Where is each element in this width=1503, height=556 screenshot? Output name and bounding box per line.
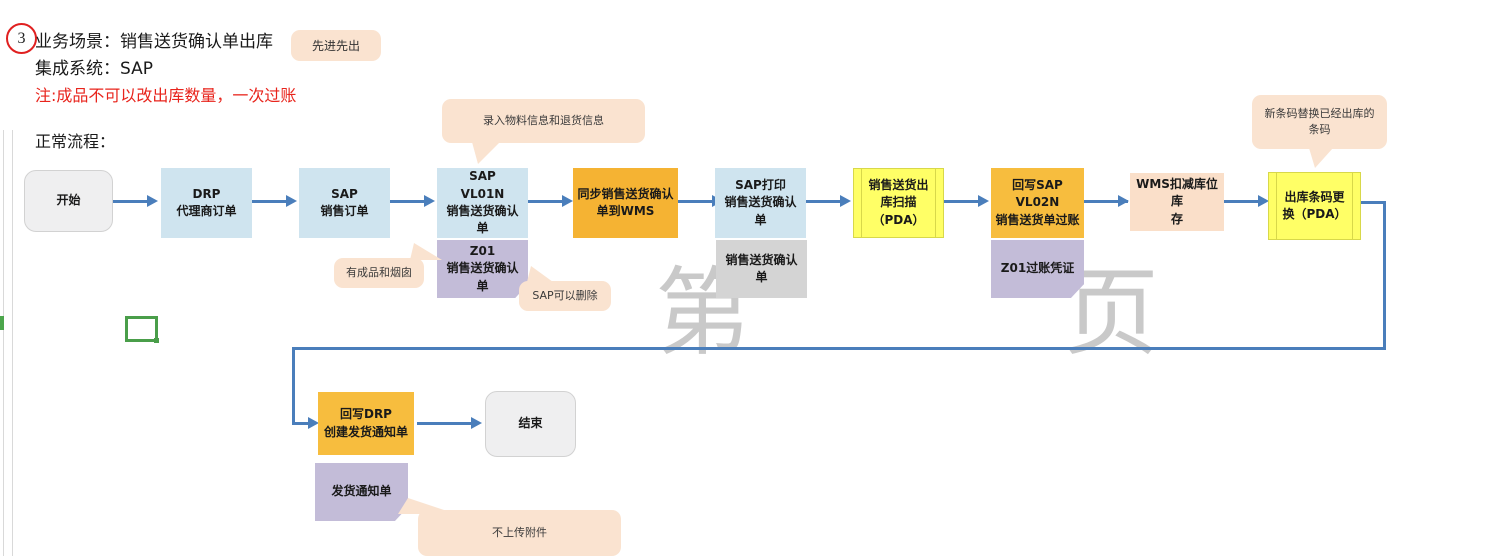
arrow-head bbox=[424, 195, 435, 207]
arrow-head bbox=[471, 417, 482, 429]
node-sap-vl02n[interactable]: 回写SAP VL02N 销售送货单过账 bbox=[991, 168, 1084, 238]
node-label-line2: 单到WMS bbox=[577, 203, 673, 220]
fifo-tag: 先进先出 bbox=[291, 30, 381, 61]
node-label-line2: 创建发货通知单 bbox=[324, 424, 408, 441]
callout-tail bbox=[410, 243, 442, 260]
arrow-head bbox=[1118, 195, 1129, 207]
callout-enter-material: 录入物料信息和退货信息 bbox=[442, 99, 645, 143]
arrow-head bbox=[562, 195, 573, 207]
node-label-line1: 出库条码更 bbox=[1282, 189, 1346, 206]
node-drp-order[interactable]: DRP 代理商订单 bbox=[161, 168, 252, 238]
callout-tail bbox=[1309, 148, 1333, 168]
selection-edge-marker bbox=[0, 316, 4, 330]
connector-vl01n-sync bbox=[528, 200, 564, 203]
node-label-line2: 代理商订单 bbox=[176, 203, 236, 220]
node-sap-sales-order[interactable]: SAP 销售订单 bbox=[299, 168, 390, 238]
node-pda-barcode-swap[interactable]: 出库条码更 换（PDA） bbox=[1268, 172, 1361, 240]
node-label-line1: DRP bbox=[176, 186, 236, 203]
callout-new-barcode: 新条码替换已经出库的条码 bbox=[1252, 95, 1387, 149]
node-label-line1: SAP打印 bbox=[719, 177, 802, 194]
connector-start-drp bbox=[113, 200, 149, 203]
callout-tail bbox=[527, 266, 553, 282]
doc-z01-posting-voucher[interactable]: Z01过账凭证 bbox=[991, 240, 1084, 298]
warning-note: 注:成品不可以改出库数量，一次过账 bbox=[35, 82, 296, 106]
node-label: 结束 bbox=[518, 415, 542, 432]
node-label-line2: VL01N bbox=[441, 186, 524, 203]
node-label-line1: WMS扣减库位库 bbox=[1134, 176, 1220, 211]
node-label-line2: 销售送货确认单 bbox=[719, 194, 802, 229]
callout-no-attachment: 不上传附件 bbox=[418, 510, 621, 556]
arrow-head bbox=[978, 195, 989, 207]
node-label-line3: 销售送货确认单 bbox=[441, 203, 524, 238]
node-label-line1: 回写SAP bbox=[995, 177, 1079, 194]
arrow-head bbox=[840, 195, 851, 207]
doc-label: 销售送货确认单 bbox=[720, 252, 803, 287]
node-end[interactable]: 结束 bbox=[485, 391, 576, 457]
doc-label: Z01过账凭证 bbox=[1001, 260, 1074, 277]
node-writeback-drp[interactable]: 回写DRP 创建发货通知单 bbox=[318, 392, 414, 455]
doc-label-line2: 销售送货确认单 bbox=[441, 260, 524, 295]
worksheet-gridline bbox=[3, 130, 4, 556]
doc-z01-delivery-note[interactable]: Z01 销售送货确认单 bbox=[437, 240, 528, 298]
node-label-line2: 库扫描 bbox=[868, 194, 928, 211]
connector-sync-print bbox=[678, 200, 714, 203]
system-title: 集成系统：SAP bbox=[35, 54, 153, 79]
node-label-line1: 同步销售送货确认 bbox=[577, 186, 673, 203]
doc-label: 发货通知单 bbox=[331, 483, 391, 500]
node-label-line1: SAP bbox=[441, 168, 524, 185]
step-number-badge: 3 bbox=[6, 23, 37, 54]
arrow-head bbox=[147, 195, 158, 207]
doc-shipping-notice[interactable]: 发货通知单 bbox=[315, 463, 408, 521]
node-label-line2: 换（PDA） bbox=[1282, 206, 1346, 223]
node-label-line2: 销售订单 bbox=[320, 203, 368, 220]
doc-print-document[interactable]: 销售送货确认单 bbox=[716, 240, 807, 298]
connector-wrap-left bbox=[292, 347, 295, 424]
connector-wrap-right bbox=[1383, 201, 1386, 350]
scenario-title: 业务场景：销售送货确认单出库 bbox=[35, 27, 273, 52]
doc-label-line1: Z01 bbox=[441, 243, 524, 260]
callout-sap-deletable: SAP可以删除 bbox=[519, 281, 611, 311]
node-label: 开始 bbox=[56, 192, 80, 209]
node-pda-scan[interactable]: 销售送货出 库扫描 （PDA） bbox=[853, 168, 944, 238]
flowchart-canvas: 3 业务场景：销售送货确认单出库 集成系统：SAP 注:成品不可以改出库数量，一… bbox=[0, 0, 1503, 556]
node-label-line1: 回写DRP bbox=[324, 406, 408, 423]
node-label-line2: VL02N bbox=[995, 194, 1079, 211]
node-sap-vl01n[interactable]: SAP VL01N 销售送货确认单 bbox=[437, 168, 528, 238]
node-label-line3: 销售送货单过账 bbox=[995, 212, 1079, 229]
callout-tail bbox=[472, 142, 500, 164]
node-wms-deduct[interactable]: WMS扣减库位库 存 bbox=[1130, 173, 1224, 231]
callout-tail bbox=[398, 498, 456, 514]
arrow-head bbox=[286, 195, 297, 207]
node-sap-print[interactable]: SAP打印 销售送货确认单 bbox=[715, 168, 806, 238]
connector-drp-sap bbox=[252, 200, 288, 203]
callout-has-product: 有成品和烟囱 bbox=[334, 258, 424, 288]
connector-sap-vl01n bbox=[390, 200, 426, 203]
node-label-line3: （PDA） bbox=[868, 212, 928, 229]
connector-wrap-bottom bbox=[292, 347, 1386, 350]
node-sync-to-wms[interactable]: 同步销售送货确认 单到WMS bbox=[573, 168, 678, 238]
worksheet-gridline bbox=[12, 130, 13, 556]
node-label-line1: 销售送货出 bbox=[868, 177, 928, 194]
node-label-line2: 存 bbox=[1134, 211, 1220, 228]
flow-section-label: 正常流程： bbox=[35, 128, 115, 152]
node-label-line1: SAP bbox=[320, 186, 368, 203]
node-start[interactable]: 开始 bbox=[24, 170, 113, 232]
connector-drp-end bbox=[417, 422, 477, 425]
selection-fill-handle[interactable] bbox=[154, 338, 159, 343]
